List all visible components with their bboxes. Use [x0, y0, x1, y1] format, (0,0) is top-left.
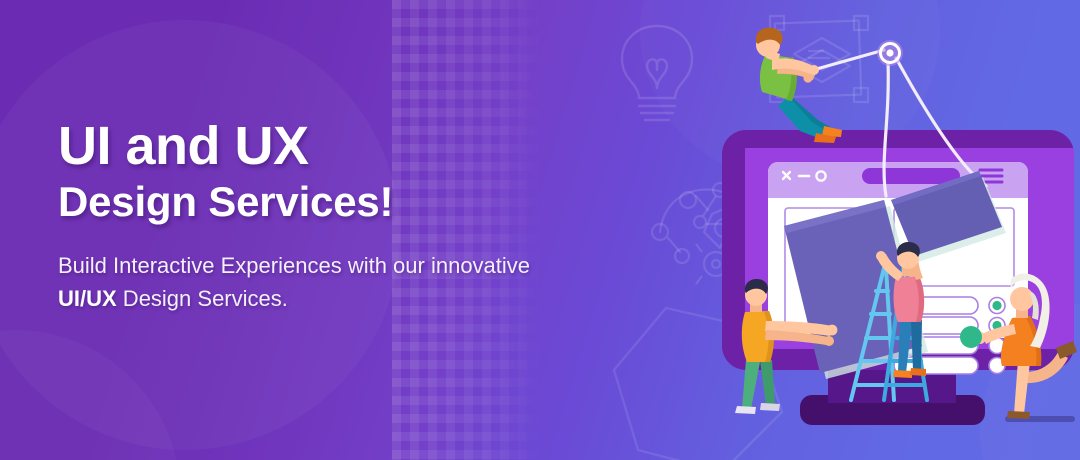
page-title-line1: UI and UX: [58, 118, 678, 175]
pulley-wheel: [877, 40, 903, 66]
toggle-on-dot: [992, 301, 1001, 310]
green-ball: [960, 326, 982, 348]
hero-banner: UI and UX Design Services! Build Interac…: [0, 0, 1080, 460]
character-rope-puller: [756, 28, 842, 143]
hero-copy: UI and UX Design Services! Build Interac…: [58, 118, 678, 316]
page-title-line2: Design Services!: [58, 177, 678, 227]
hero-subheading-rest: Design Services.: [117, 286, 288, 311]
hero-subheading: Build Interactive Experiences with our i…: [58, 249, 678, 316]
hero-subheading-line2: UI/UX Design Services.: [58, 282, 678, 315]
hero-subheading-line1: Build Interactive Experiences with our i…: [58, 249, 678, 282]
hero-subheading-strong: UI/UX: [58, 286, 117, 311]
browser-addressbar: [862, 168, 960, 184]
